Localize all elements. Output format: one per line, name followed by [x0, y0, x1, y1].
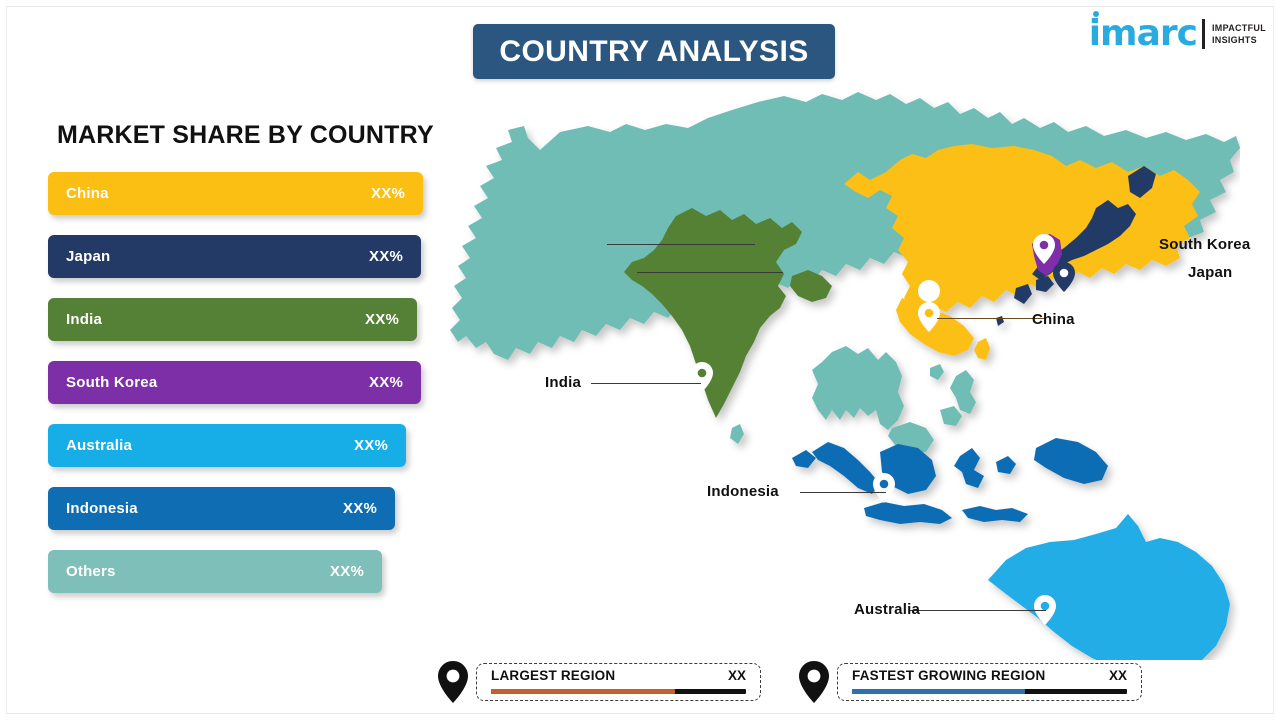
- logo-tagline: IMPACTFUL INSIGHTS: [1212, 22, 1266, 46]
- map-region-sea-mainland: [812, 346, 904, 430]
- map-region-india-northeast: [790, 270, 832, 302]
- market-share-bar-label: Australia: [66, 437, 132, 454]
- leader-line-india: [591, 383, 701, 384]
- map-pin-indonesia-hole: [880, 480, 889, 489]
- market-share-bar-value: XX%: [354, 437, 388, 454]
- market-share-bar-value: XX%: [365, 311, 399, 328]
- map-pin-india-hole: [698, 369, 707, 378]
- legend-pin-largest-icon: [436, 659, 470, 705]
- legend-pin-largest-svg: [436, 659, 470, 705]
- imarc-logo: imarc IMPACTFUL INSIGHTS: [1089, 14, 1266, 54]
- market-share-bar-label: India: [66, 311, 102, 328]
- legend-largest-box: LARGEST REGION XX: [476, 663, 761, 701]
- map-region-sumatra-tip: [792, 450, 816, 468]
- map-pin-south-korea-hole: [1040, 241, 1049, 250]
- market-share-bar[interactable]: AustraliaXX%: [48, 424, 406, 467]
- legend-fastest-value: XX: [1109, 668, 1127, 683]
- market-share-bar-label: Japan: [66, 248, 110, 265]
- legend-fastest-region: FASTEST GROWING REGION XX: [797, 659, 1142, 705]
- logo-wordmark: imarc: [1089, 16, 1197, 52]
- leader-line-japan: [637, 272, 783, 273]
- market-share-heading: MARKET SHARE BY COUNTRY: [57, 121, 434, 150]
- map-region-taiwan: [974, 338, 990, 360]
- asia-pacific-map: [440, 80, 1240, 660]
- market-share-bar[interactable]: JapanXX%: [48, 235, 421, 278]
- market-share-bar-value: XX%: [369, 248, 403, 265]
- map-label-india: India: [545, 374, 581, 391]
- legend-largest-value: XX: [728, 668, 746, 683]
- map-region-sumatra: [812, 442, 880, 494]
- map-region-lesser-sunda: [962, 506, 1028, 522]
- market-share-bar-label: Indonesia: [66, 500, 138, 517]
- market-share-bar-list: ChinaXX%JapanXX%IndiaXX%South KoreaXX%Au…: [48, 172, 438, 613]
- map-region-papua-teal: [940, 406, 962, 426]
- market-share-bar[interactable]: OthersXX%: [48, 550, 382, 593]
- legend-fastest-track: [852, 689, 1127, 694]
- legend-fastest-fill: [852, 689, 1025, 694]
- logo-tagline-line1: IMPACTFUL: [1212, 22, 1266, 34]
- map-label-australia: Australia: [854, 601, 920, 618]
- legend-largest-fill: [491, 689, 675, 694]
- page-title-banner: COUNTRY ANALYSIS: [473, 24, 835, 79]
- leader-line-south-korea: [607, 244, 755, 245]
- leader-line-indonesia: [800, 492, 886, 493]
- legend-pin-fastest-icon: [797, 659, 831, 705]
- market-share-bar-label: South Korea: [66, 374, 157, 391]
- map-region-maluku: [996, 456, 1016, 474]
- map-label-japan: Japan: [1188, 264, 1232, 281]
- market-share-bar-value: XX%: [371, 185, 405, 202]
- logo-dot-icon: [1093, 11, 1099, 17]
- map-region-papua: [1034, 438, 1108, 484]
- market-share-bar-label: China: [66, 185, 109, 202]
- leader-line-australia: [910, 610, 1046, 611]
- map-pin-japan-hole: [1060, 269, 1069, 278]
- map-pin-china-hole: [925, 309, 934, 318]
- legend-fastest-box: FASTEST GROWING REGION XX: [837, 663, 1142, 701]
- logo-text: imarc: [1089, 13, 1197, 54]
- market-share-bar[interactable]: IndiaXX%: [48, 298, 417, 341]
- legend-largest-track: [491, 689, 746, 694]
- market-share-bar-value: XX%: [369, 374, 403, 391]
- map-region-hainan: [930, 364, 944, 380]
- map-label-china: China: [1032, 311, 1075, 328]
- map-region-sulawesi: [954, 448, 984, 488]
- legend-fastest-row: FASTEST GROWING REGION XX: [852, 668, 1127, 683]
- market-share-bar-label: Others: [66, 563, 116, 580]
- market-share-bar[interactable]: South KoreaXX%: [48, 361, 421, 404]
- page-title: COUNTRY ANALYSIS: [499, 35, 808, 69]
- market-share-bar[interactable]: ChinaXX%: [48, 172, 423, 215]
- market-share-bar-value: XX%: [330, 563, 364, 580]
- map-region-australia: [988, 514, 1230, 660]
- legend-fastest-label: FASTEST GROWING REGION: [852, 668, 1045, 683]
- market-share-bar[interactable]: IndonesiaXX%: [48, 487, 395, 530]
- leader-line-china: [937, 318, 1045, 319]
- map-label-south-korea: South Korea: [1159, 236, 1250, 253]
- map-pin-australia-hole: [1041, 602, 1050, 611]
- slide-canvas: imarc IMPACTFUL INSIGHTS COUNTRY ANALYSI…: [0, 0, 1280, 720]
- logo-tagline-line2: INSIGHTS: [1212, 34, 1266, 46]
- logo-divider: [1202, 19, 1205, 49]
- legend-largest-row: LARGEST REGION XX: [491, 668, 746, 683]
- legend-largest-label: LARGEST REGION: [491, 668, 615, 683]
- legend-pin-fastest-svg: [797, 659, 831, 705]
- map-region-java: [864, 502, 952, 524]
- map-svg: [440, 80, 1240, 660]
- map-label-indonesia: Indonesia: [707, 483, 779, 500]
- legend-largest-region: LARGEST REGION XX: [436, 659, 761, 705]
- market-share-bar-value: XX%: [343, 500, 377, 517]
- map-region-sri-lanka: [730, 424, 744, 444]
